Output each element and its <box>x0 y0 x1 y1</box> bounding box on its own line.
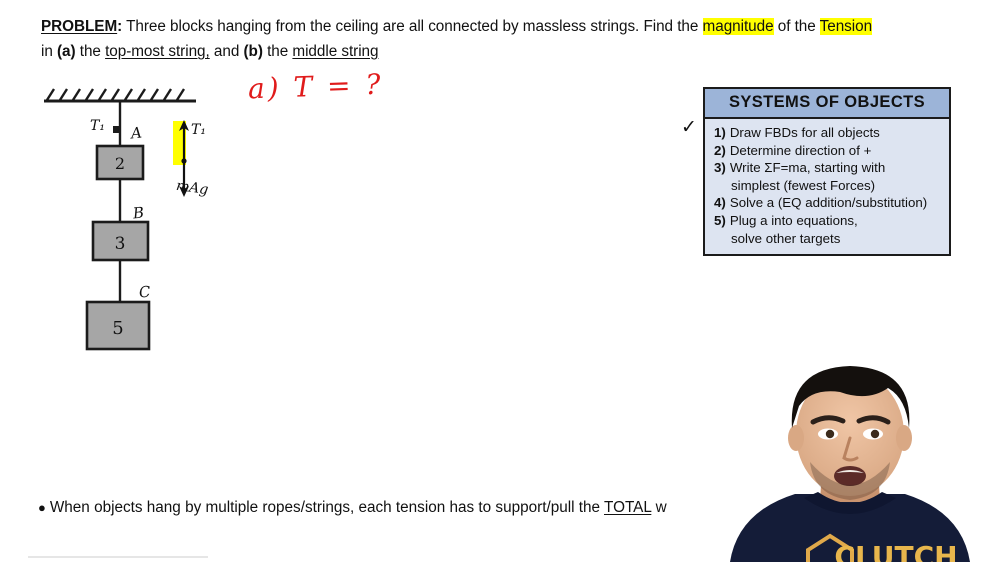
sysbox-step-2: 2) Determine direction of + <box>714 142 941 160</box>
sysbox-step-3-num: 3) <box>714 159 726 177</box>
person-ear-left <box>788 425 804 451</box>
sysbox-step-3-text: Write ΣF=ma, starting with <box>730 159 885 177</box>
sysbox-step-1-num: 1) <box>714 124 726 142</box>
label-block-b: B <box>132 203 145 222</box>
sysbox-step-1-text: Draw FBDs for all objects <box>730 124 880 142</box>
bottom-note-text-post: w <box>651 499 666 516</box>
hanging-blocks-diagram: 2 3 5 <box>0 0 320 380</box>
sysbox-step-2-text: Determine direction of + <box>730 142 872 160</box>
pupil-right <box>871 430 879 438</box>
highlight-magnitude: magnitude <box>703 18 774 35</box>
sysbox-step-5: 5) Plug a into equations, <box>714 212 941 230</box>
block-b-mass: 3 <box>115 234 126 254</box>
attachment-dot <box>113 126 120 133</box>
systems-of-objects-box: SYSTEMS OF OBJECTS 1) Draw FBDs for all … <box>703 87 951 256</box>
label-block-a: A <box>130 123 143 142</box>
shirt-brand-text: CLUTCH <box>834 540 957 562</box>
checkmark-icon: ✓ <box>681 116 697 138</box>
highlight-tension: Tension <box>820 18 872 35</box>
sysbox-step-1: 1) Draw FBDs for all objects <box>714 124 941 142</box>
bullet-icon: ● <box>38 500 46 515</box>
problem-line1-part2: of the <box>774 18 820 35</box>
label-block-c: C <box>138 282 151 301</box>
block-a-mass: 2 <box>115 154 125 173</box>
ceiling-hatching <box>47 89 184 100</box>
sysbox-step-4-text: Solve a (EQ addition/substitution) <box>730 194 927 212</box>
label-tension-top: T₁ <box>90 118 105 134</box>
label-fbd-tension: T₁ <box>191 122 206 138</box>
block-c-mass: 5 <box>112 318 123 339</box>
bottom-divider <box>28 556 208 558</box>
systems-of-objects-title: SYSTEMS OF OBJECTS <box>705 89 949 119</box>
sysbox-step-4: 4) Solve a (EQ addition/substitution) <box>714 194 941 212</box>
sysbox-step-5-sub: solve other targets <box>714 230 941 248</box>
sysbox-step-2-num: 2) <box>714 142 726 160</box>
bottom-note: ●When objects hang by multiple ropes/str… <box>38 497 667 518</box>
sysbox-step-5-num: 5) <box>714 212 726 230</box>
sysbox-step-4-num: 4) <box>714 194 726 212</box>
sysbox-step-5-text: Plug a into equations, <box>730 212 858 230</box>
webcam-overlay: CLUTCH <box>700 362 1000 562</box>
sysbox-step-3-sub: simplest (fewest Forces) <box>714 177 941 195</box>
bottom-note-text: When objects hang by multiple ropes/stri… <box>50 499 604 516</box>
systems-of-objects-list: 1) Draw FBDs for all objects 2) Determin… <box>705 119 949 254</box>
pupil-left <box>826 430 834 438</box>
person-mouth <box>834 466 866 486</box>
bottom-note-underlined: TOTAL <box>604 499 651 516</box>
sysbox-step-3: 3) Write ΣF=ma, starting with <box>714 159 941 177</box>
person-ear-right <box>896 425 912 451</box>
